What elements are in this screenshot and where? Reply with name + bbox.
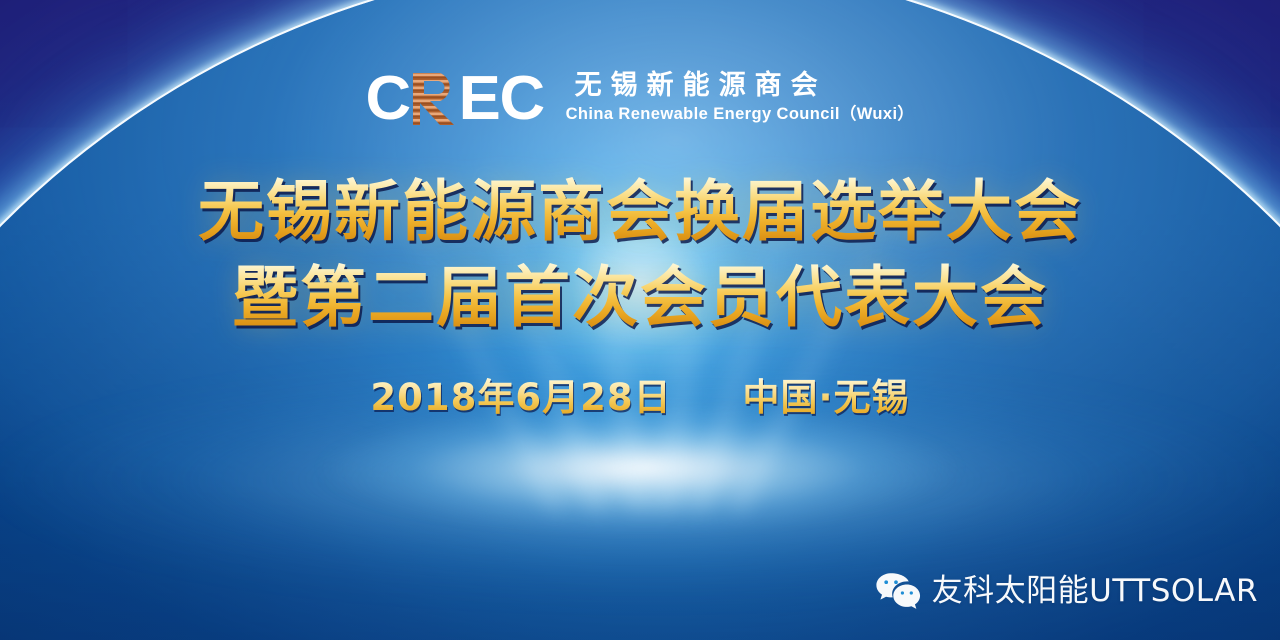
logo-chinese-name: 无锡新能源商会 bbox=[566, 70, 915, 100]
logo-letter-e: E bbox=[459, 68, 500, 130]
cec-logo-wordmark: 无锡新能源商会 China Renewable Energy Council（W… bbox=[566, 68, 915, 125]
cec-logo-mark: C bbox=[366, 68, 544, 130]
logo-letter-r-solar-stripes bbox=[410, 71, 458, 127]
event-title: 无锡新能源商会换届选举大会 暨第二届首次会员代表大会 bbox=[0, 172, 1280, 338]
event-meta: 2018年6月28日 中国·无锡 bbox=[0, 374, 1280, 422]
wechat-icon bbox=[875, 572, 921, 610]
event-date: 2018年6月28日 bbox=[370, 374, 671, 422]
title-line-1: 无锡新能源商会换届选举大会 bbox=[0, 172, 1280, 252]
conference-banner-poster: C bbox=[0, 0, 1280, 640]
event-location: 中国·无锡 bbox=[743, 374, 910, 422]
title-line-2: 暨第二届首次会员代表大会 bbox=[0, 258, 1280, 338]
logo-letter-c1: C bbox=[365, 68, 410, 130]
cec-logo: C bbox=[0, 68, 1280, 130]
wechat-account-name: 友科太阳能UTTSOLAR bbox=[932, 576, 1258, 607]
logo-letter-c2: C bbox=[499, 68, 544, 130]
logo-english-name: China Renewable Energy Council（Wuxi） bbox=[566, 105, 915, 125]
wechat-watermark: 友科太阳能UTTSOLAR bbox=[875, 572, 1258, 610]
